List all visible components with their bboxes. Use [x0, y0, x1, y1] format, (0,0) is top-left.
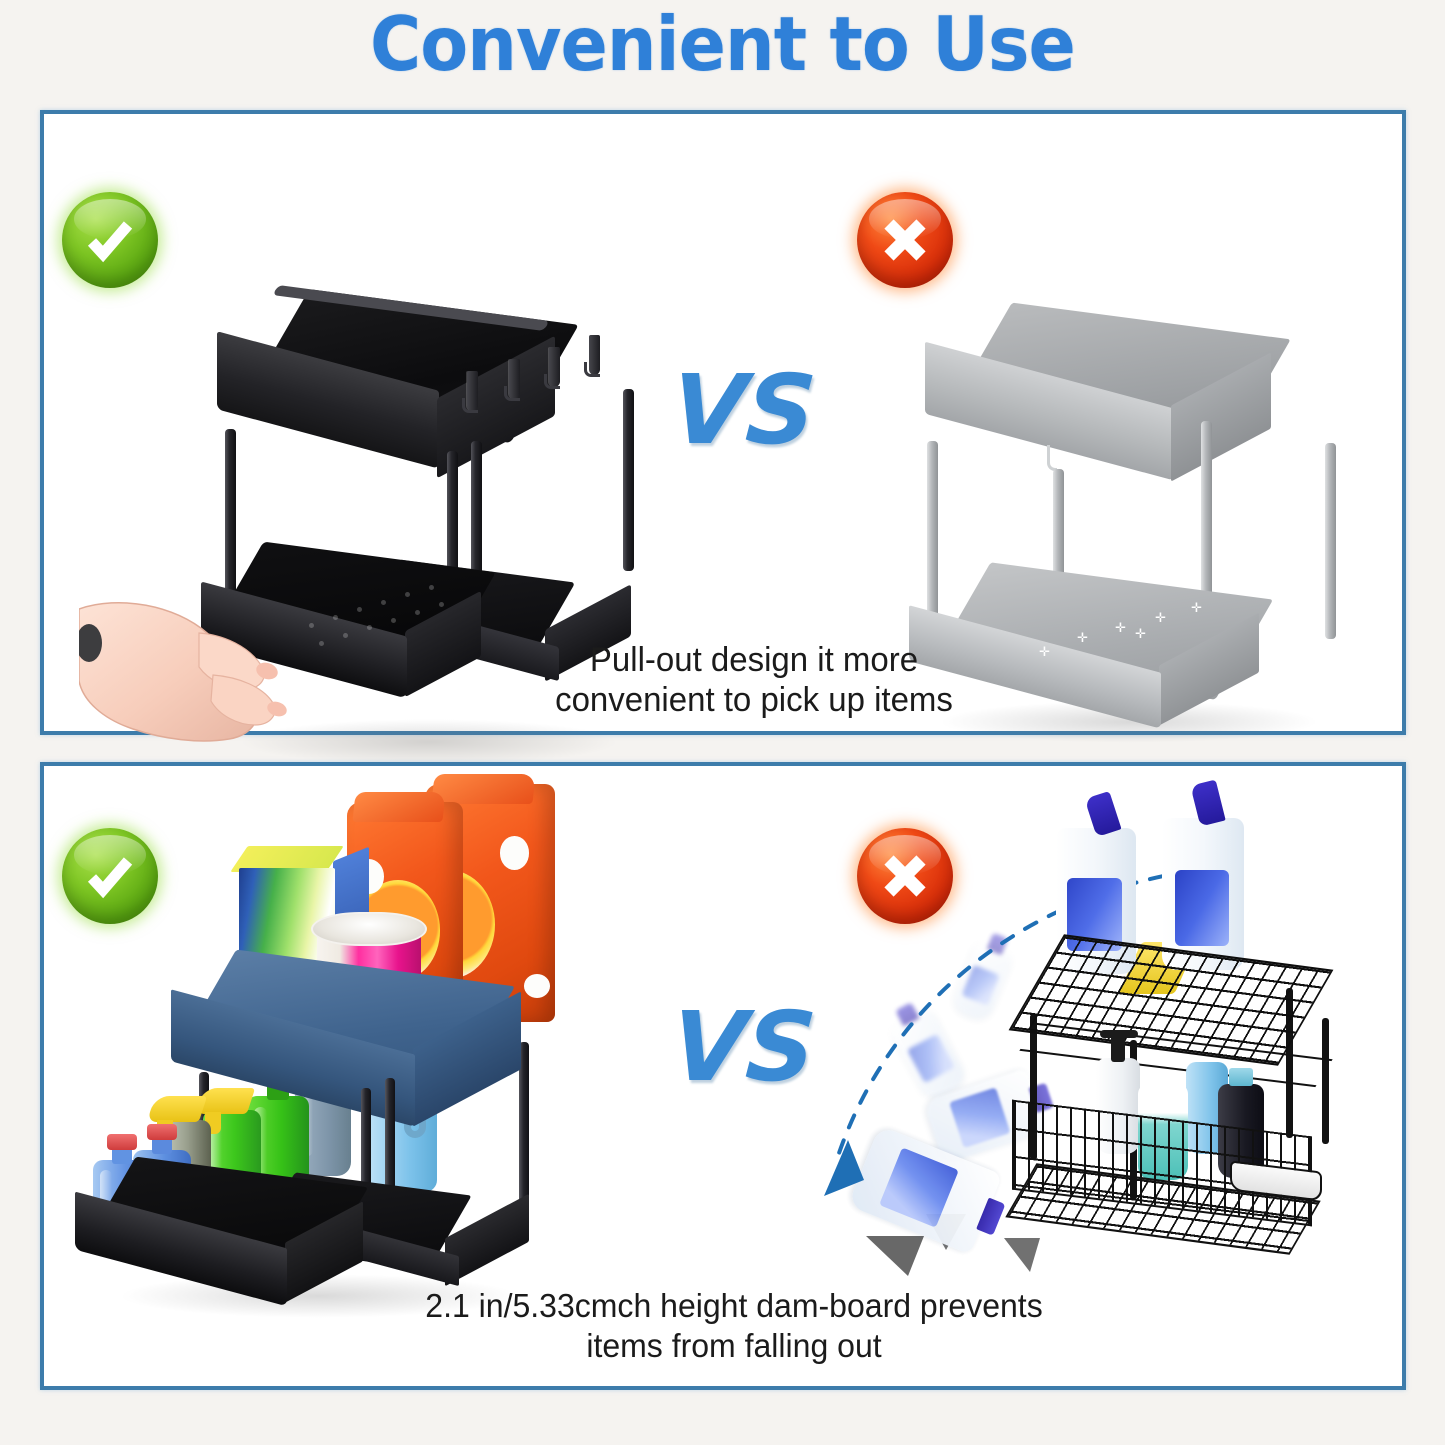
spray-nozzle-icon	[147, 1096, 207, 1122]
bottle-toilet-cleaner	[1162, 818, 1244, 970]
side-hook-icon	[509, 359, 520, 399]
caption-top: Pull-out design it more convenient to pi…	[395, 640, 1113, 720]
vs-label-top: VS	[668, 354, 819, 466]
comparison-panel-top: VS ✛ ✛ ✛ ✛ ✛ ✛	[40, 110, 1406, 735]
side-hook-icon	[467, 371, 478, 411]
product-wire-rack	[1034, 934, 1384, 1274]
caption-bottom-line1: 2.1 in/5.33cmch height dam-board prevent…	[425, 1287, 1042, 1324]
product-navy-loaded-rack	[99, 776, 619, 1336]
side-hook-icon	[549, 347, 560, 387]
vs-label-bottom: VS	[668, 991, 819, 1103]
page-title: Convenient to Use	[51, 0, 1395, 90]
infographic-page: Convenient to Use	[0, 0, 1445, 1445]
cross-icon	[857, 192, 953, 288]
comparison-panel-bottom: VS	[40, 762, 1406, 1390]
side-hook-icon	[1047, 445, 1057, 471]
check-icon	[62, 192, 158, 288]
cross-icon	[857, 828, 953, 924]
caption-top-line1: Pull-out design it more	[590, 641, 918, 679]
hand-illustration	[79, 589, 289, 739]
caption-bottom-line2: items from falling out	[346, 1326, 1122, 1366]
caption-bottom: 2.1 in/5.33cmch height dam-board prevent…	[346, 1286, 1122, 1366]
check-icon	[62, 828, 158, 924]
caption-top-line2: convenient to pick up items	[395, 680, 1113, 720]
side-hook-icon	[589, 335, 600, 375]
